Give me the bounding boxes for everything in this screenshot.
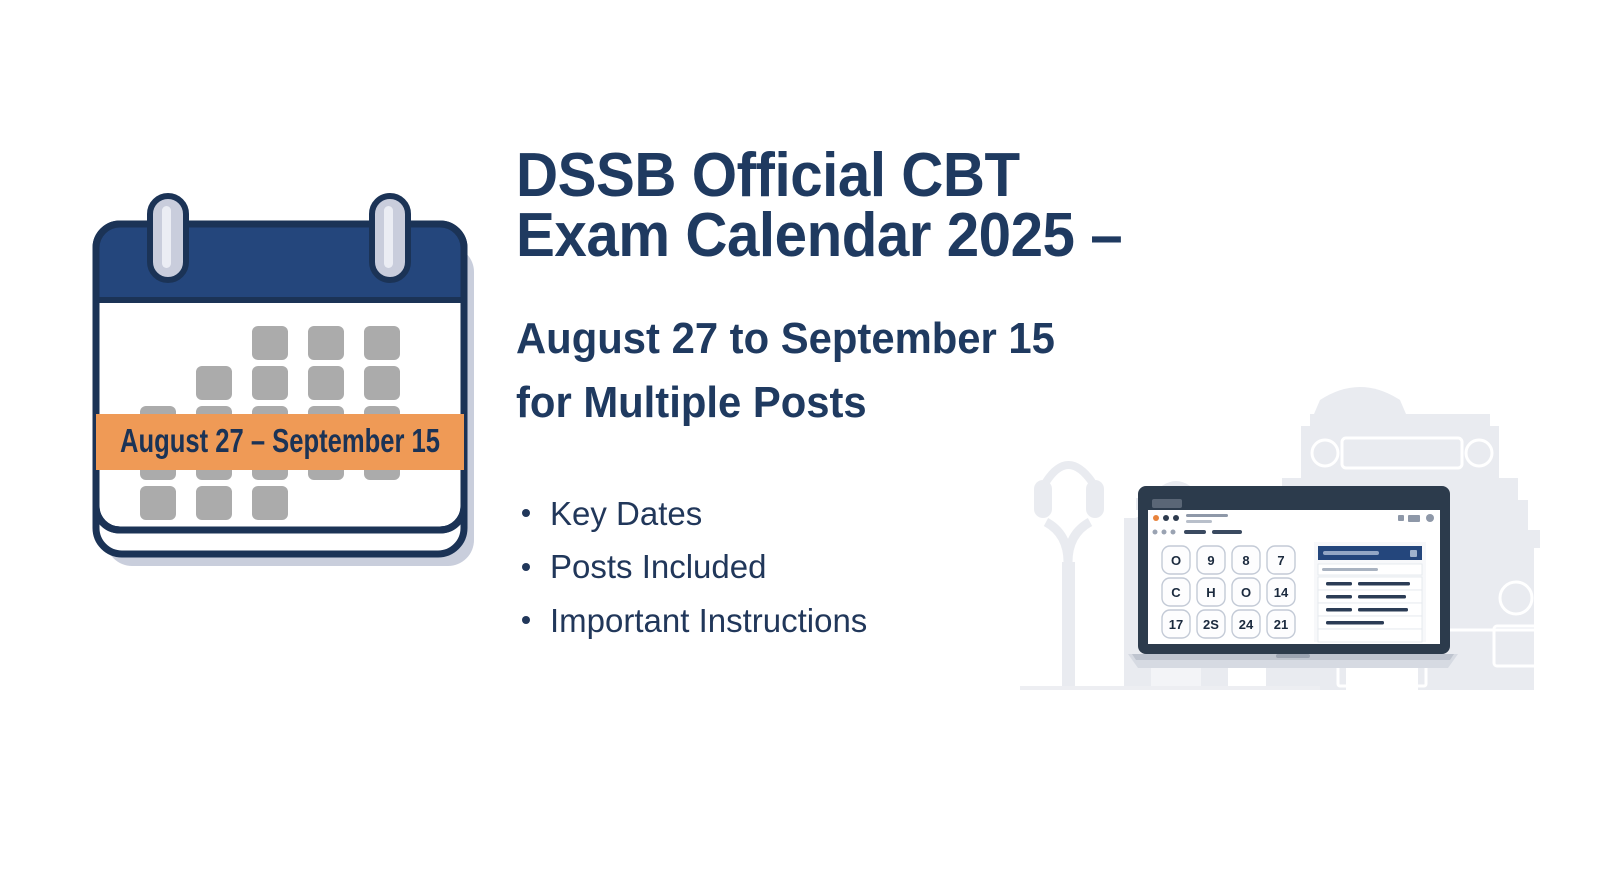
side-panel-header-text — [1323, 551, 1379, 555]
exam-side-panel — [1314, 542, 1426, 642]
bullet-dot-icon — [522, 563, 530, 571]
laptop-illustration: O 9 8 7 C H O 14 17 2S 24 21 — [1128, 484, 1458, 684]
keypad-key-label: 2S — [1203, 617, 1219, 632]
browser-avatar-icon[interactable] — [1426, 514, 1434, 522]
keypad-key-label: 14 — [1274, 585, 1289, 600]
keypad-key-label: 17 — [1169, 617, 1183, 632]
calendar-band-label: August 27 – September 15 — [120, 422, 440, 459]
bookmark-dot-3 — [1171, 530, 1176, 535]
bookmark-dot-1 — [1153, 530, 1158, 535]
bookmark-dot-2 — [1162, 530, 1167, 535]
page-title: DSSB Official CBT Exam Calendar 2025 – — [516, 146, 1268, 265]
side-panel-header-icon[interactable] — [1410, 550, 1417, 557]
bullet-dot-icon — [522, 616, 530, 624]
list-item-label: Important Instructions — [550, 602, 867, 639]
browser-url-line-2 — [1186, 520, 1212, 523]
calendar-ring-left — [150, 196, 186, 280]
list-item-label: Key Dates — [550, 495, 702, 532]
keypad-key-label: O — [1241, 585, 1251, 600]
browser-dot-dark-1 — [1163, 515, 1169, 521]
calendar-ring-right — [372, 196, 408, 280]
browser-dot-dark-2 — [1173, 515, 1179, 521]
keypad-key-label: 24 — [1239, 617, 1254, 632]
side-panel-row — [1318, 629, 1422, 642]
laptop-trackpad-notch — [1276, 654, 1310, 658]
keypad-key-label: O — [1171, 553, 1181, 568]
headline-line-2: Exam Calendar 2025 – — [516, 206, 1268, 266]
browser-tabstrip — [1148, 496, 1440, 510]
keypad-key-label: 7 — [1277, 553, 1284, 568]
keypad-key-label: 8 — [1242, 553, 1249, 568]
keypad-key-label: 9 — [1207, 553, 1214, 568]
headline-line-1: DSSB Official CBT — [516, 146, 1268, 206]
browser-icon-1[interactable] — [1398, 515, 1404, 521]
calendar-illustration: August 27 – September 15 — [72, 188, 492, 583]
bookmark-link-1[interactable] — [1184, 530, 1206, 534]
browser-url-line-1 — [1186, 514, 1228, 517]
browser-tab[interactable] — [1152, 499, 1182, 508]
subhead-line-2: for Multiple Posts — [516, 371, 1276, 435]
browser-dot-orange — [1153, 515, 1159, 521]
list-item-label: Posts Included — [550, 548, 766, 585]
keypad-key-label: H — [1206, 585, 1215, 600]
browser-toolbar — [1148, 510, 1440, 526]
ground-line — [1020, 686, 1320, 690]
subhead-line-1: August 27 to September 15 — [516, 307, 1276, 371]
bullet-dot-icon — [522, 509, 530, 517]
bookmark-link-2[interactable] — [1212, 530, 1242, 534]
page-subtitle: August 27 to September 15 for Multiple P… — [516, 307, 1276, 435]
keypad-key-label: 21 — [1274, 617, 1288, 632]
keypad-key-label: C — [1171, 585, 1181, 600]
browser-icon-2[interactable] — [1408, 515, 1420, 522]
